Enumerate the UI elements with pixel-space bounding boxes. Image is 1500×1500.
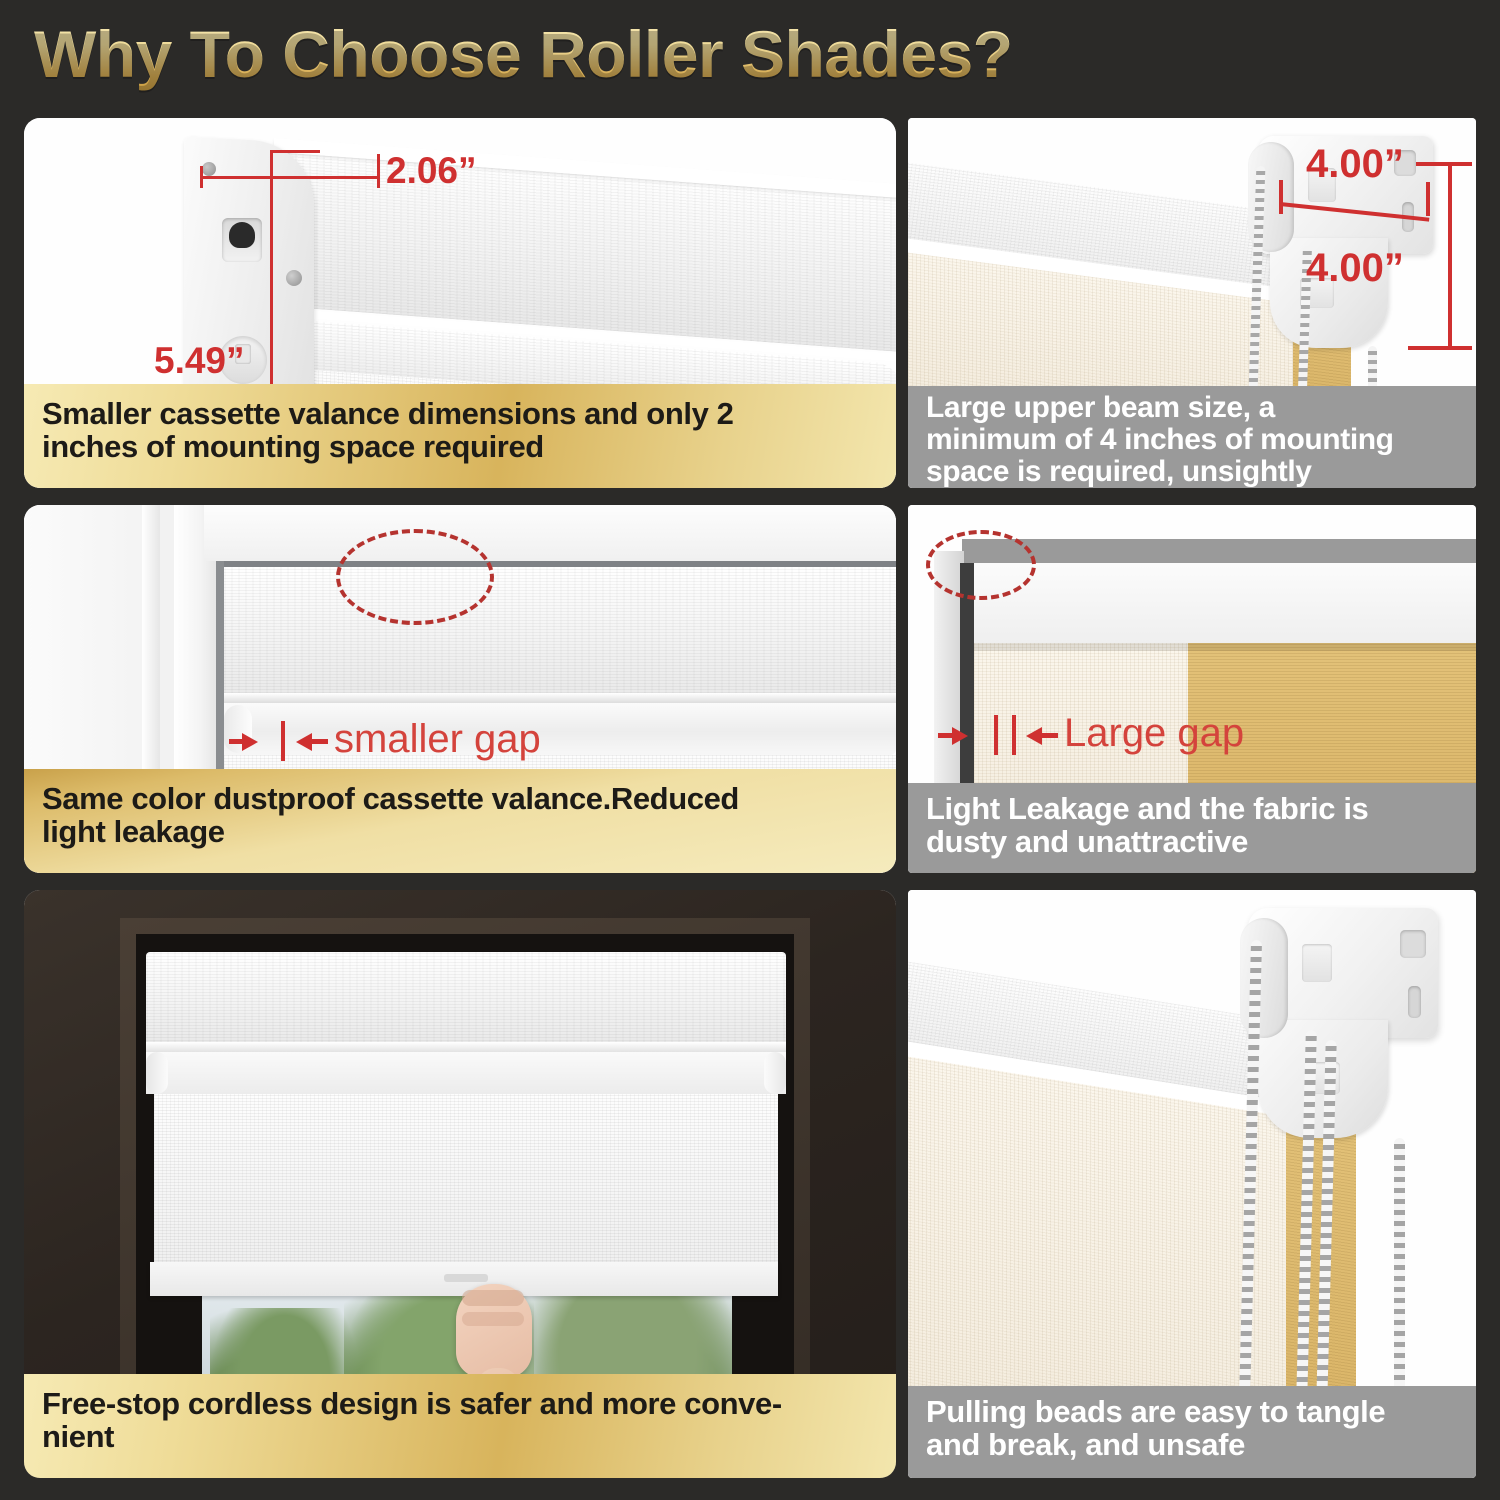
caption-line: Free-stop cordless design is safer and m… — [42, 1388, 878, 1421]
caption-line: Smaller cassette valance dimensions and … — [42, 398, 878, 431]
dimension-height-top-tick — [1416, 162, 1472, 166]
gap-arrow-left-stem — [938, 733, 954, 738]
caption-line: light leakage — [42, 816, 878, 849]
caption-panel-5: Free-stop cordless design is safer and m… — [24, 1374, 896, 1478]
panel-large-upper-beam: 4.00” 4.00” Large upper beam size, a min… — [908, 118, 1476, 488]
panel-dustproof-cassette: smaller gap Same color dustproof cassett… — [24, 505, 896, 873]
dimension-height-bottom-tick — [1408, 346, 1472, 350]
gap-arrow-right — [296, 733, 312, 751]
gap-tick — [1012, 715, 1016, 755]
dimension-height-line — [270, 150, 273, 388]
caption-panel-2: Large upper beam size, a minimum of 4 in… — [908, 386, 1476, 488]
gap-tick — [281, 721, 285, 761]
infographic-root: Why To Choose Roller Shades? — [0, 0, 1500, 1500]
gap-tick — [994, 715, 998, 755]
gap-arrow-right-stem — [312, 739, 328, 744]
caption-line: nient — [42, 1421, 878, 1454]
dimension-width-right-tick — [1426, 182, 1430, 216]
dimension-width-left-tick — [200, 166, 203, 188]
caption-line: space is required, unsightly — [926, 456, 1458, 488]
dimension-height-label: 5.49” — [154, 340, 245, 382]
caption-line: inches of mounting space required — [42, 431, 878, 464]
gap-label-smaller: smaller gap — [334, 717, 541, 762]
gap-arrow-left — [952, 727, 968, 745]
caption-panel-1: Smaller cassette valance dimensions and … — [24, 384, 896, 488]
page-title: Why To Choose Roller Shades? — [34, 16, 1013, 92]
panel-free-stop-cordless: Free-stop cordless design is safer and m… — [24, 890, 896, 1478]
dimension-width-label: 4.00” — [1306, 142, 1404, 187]
caption-line: minimum of 4 inches of mounting — [926, 424, 1458, 456]
panel-pulling-beads: Pulling beads are easy to tangle and bre… — [908, 890, 1476, 1478]
highlight-ellipse-small-gap — [336, 529, 494, 625]
gap-arrow-right-stem — [1042, 733, 1058, 738]
dimension-width-line — [200, 176, 380, 179]
dimension-height-line — [1448, 162, 1452, 350]
dimension-width-label: 2.06” — [386, 150, 477, 192]
caption-line: and break, and unsafe — [926, 1429, 1458, 1462]
panel-light-leakage: Large gap Light Leakage and the fabric i… — [908, 505, 1476, 873]
dimension-height-top-tick — [270, 150, 320, 153]
dimension-width-left-tick — [1279, 180, 1283, 214]
caption-panel-6: Pulling beads are easy to tangle and bre… — [908, 1386, 1476, 1478]
caption-line: Same color dustproof cassette valance.Re… — [42, 783, 878, 816]
caption-panel-4: Light Leakage and the fabric is dusty an… — [908, 783, 1476, 873]
dimension-width-right-tick — [377, 154, 380, 188]
gap-label-large: Large gap — [1064, 711, 1244, 756]
gap-arrow-left-stem — [229, 739, 245, 744]
dimension-height-label: 4.00” — [1306, 246, 1404, 291]
caption-line: dusty and unattractive — [926, 826, 1458, 859]
gap-arrow-right — [1026, 727, 1042, 745]
caption-line: Light Leakage and the fabric is — [926, 793, 1458, 826]
caption-line: Pulling beads are easy to tangle — [926, 1396, 1458, 1429]
highlight-ellipse-large-gap — [926, 530, 1036, 600]
panel-cassette-dimensions: 5.49” 2.06” Smaller cassette valance dim… — [24, 118, 896, 488]
caption-line: Large upper beam size, a — [926, 392, 1458, 424]
caption-panel-3: Same color dustproof cassette valance.Re… — [24, 769, 896, 873]
